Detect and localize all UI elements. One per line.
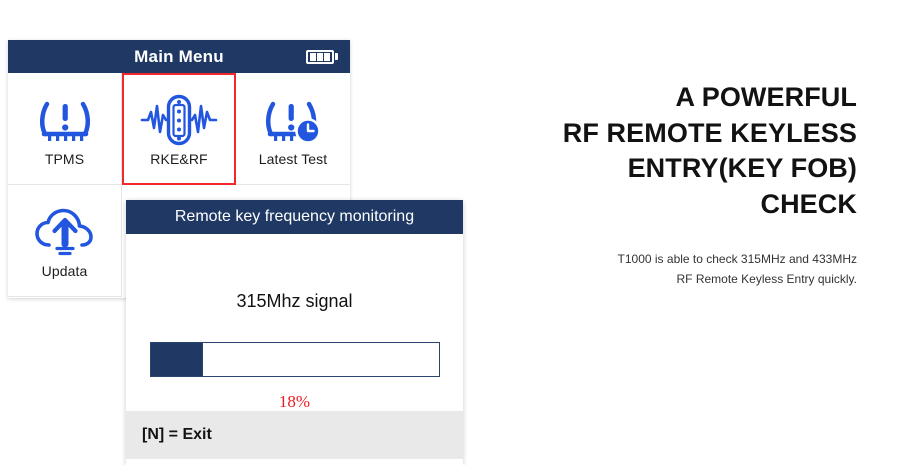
rf-dialog-title: Remote key frequency monitoring [175, 208, 414, 226]
subcopy: T1000 is able to check 315MHz and 433MHz… [437, 249, 857, 290]
headline-line: ENTRY(KEY FOB) [628, 153, 857, 183]
menu-tile-label: RKE&RF [150, 151, 207, 167]
battery-body [306, 50, 334, 64]
headline: A POWERFUL RF REMOTE KEYLESS ENTRY(KEY F… [437, 80, 857, 223]
menu-tile-label: Updata [42, 263, 88, 279]
headline-line: RF REMOTE KEYLESS [563, 118, 857, 148]
menu-tile-latest-test[interactable]: Latest Test [236, 73, 350, 185]
key-fob-rf-icon [140, 91, 218, 149]
menu-tile-label: Latest Test [259, 151, 328, 167]
menu-tile-tpms[interactable]: TPMS [8, 73, 122, 185]
signal-progress-bar [150, 342, 440, 377]
subcopy-line: RF Remote Keyless Entry quickly. [437, 269, 857, 289]
signal-progress-fill [151, 343, 203, 376]
battery-terminal [335, 53, 338, 60]
subcopy-line: T1000 is able to check 315MHz and 433MHz [437, 249, 857, 269]
cloud-upload-icon [34, 203, 96, 261]
headline-line: CHECK [760, 189, 857, 219]
tpms-tire-warning-icon [37, 91, 93, 149]
rf-monitoring-dialog: Remote key frequency monitoring 315Mhz s… [126, 200, 463, 465]
main-menu-titlebar: Main Menu [8, 40, 350, 73]
tire-clock-history-icon [263, 91, 323, 149]
signal-progress-percent: 18% [126, 392, 463, 412]
signal-frequency-label: 315Mhz signal [126, 291, 463, 312]
menu-tile-label: TPMS [45, 151, 84, 167]
menu-tile-rke-rf[interactable]: RKE&RF [122, 73, 236, 185]
marketing-copy: A POWERFUL RF REMOTE KEYLESS ENTRY(KEY F… [437, 80, 857, 289]
rf-dialog-titlebar: Remote key frequency monitoring [126, 200, 463, 234]
battery-cell [317, 53, 323, 61]
exit-key-hint[interactable]: [N] = Exit [142, 426, 212, 444]
page-title: Main Menu [134, 47, 224, 67]
headline-line: A POWERFUL [676, 82, 857, 112]
rf-dialog-footer: [N] = Exit [126, 411, 463, 459]
battery-cell [324, 53, 330, 61]
rf-dialog-body: 315Mhz signal 18% [126, 234, 463, 411]
menu-tile-updata[interactable]: Updata [8, 185, 122, 297]
battery-cell [310, 53, 316, 61]
battery-icon [306, 50, 338, 64]
